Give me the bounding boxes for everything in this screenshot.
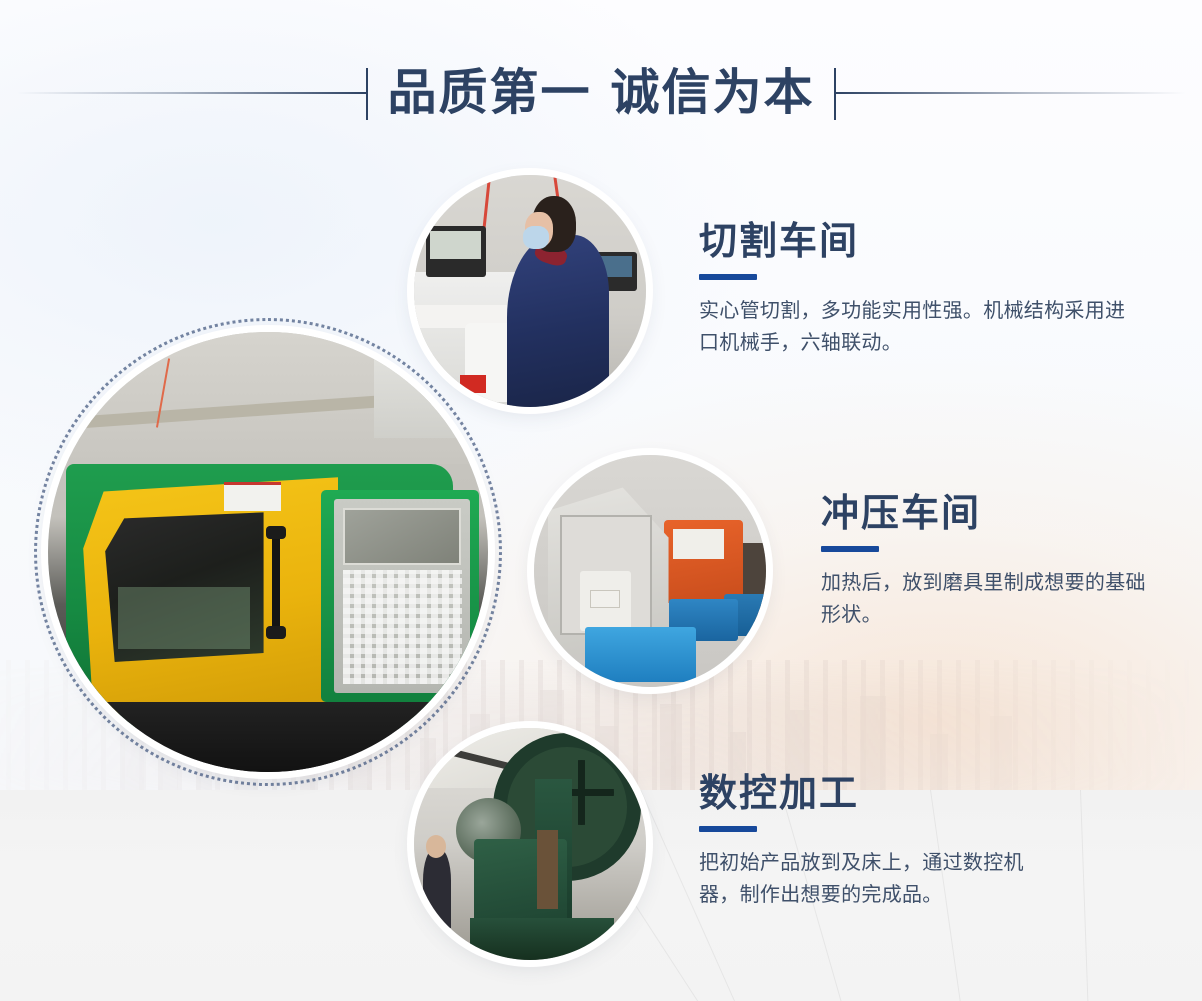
promo-banner: 品质第一 诚信为本 <box>0 0 1202 1001</box>
section-cnc-machining: 数控加工 把初始产品放到及床上，通过数控机器，制作出想要的完成品。 <box>699 770 1059 910</box>
section-cutting-workshop: 切割车间 实心管切割，多功能实用性强。机械结构采用进口机械手，六轴联动。 <box>699 218 1139 358</box>
section-heading: 冲压车间 <box>821 490 1161 536</box>
section-body: 加热后，放到磨具里制成想要的基础形状。 <box>821 566 1161 630</box>
heading-accent-bar <box>821 546 879 552</box>
banner-header: 品质第一 诚信为本 <box>0 46 1202 126</box>
header-rule-right <box>836 92 1186 94</box>
heading-accent-bar <box>699 826 757 832</box>
section-heading: 切割车间 <box>699 218 1139 264</box>
section-body: 把初始产品放到及床上，通过数控机器，制作出想要的完成品。 <box>699 846 1059 910</box>
section-heading: 数控加工 <box>699 770 1059 816</box>
heading-accent-bar <box>699 274 757 280</box>
section-body: 实心管切割，多功能实用性强。机械结构采用进口机械手，六轴联动。 <box>699 294 1139 358</box>
cnc-machining-photo <box>414 728 646 960</box>
section-stamping-workshop: 冲压车间 加热后，放到磨具里制成想要的基础形状。 <box>821 490 1161 630</box>
cutting-workshop-photo <box>414 175 646 407</box>
header-tick-right <box>834 68 836 120</box>
stamping-workshop-photo <box>534 455 766 687</box>
